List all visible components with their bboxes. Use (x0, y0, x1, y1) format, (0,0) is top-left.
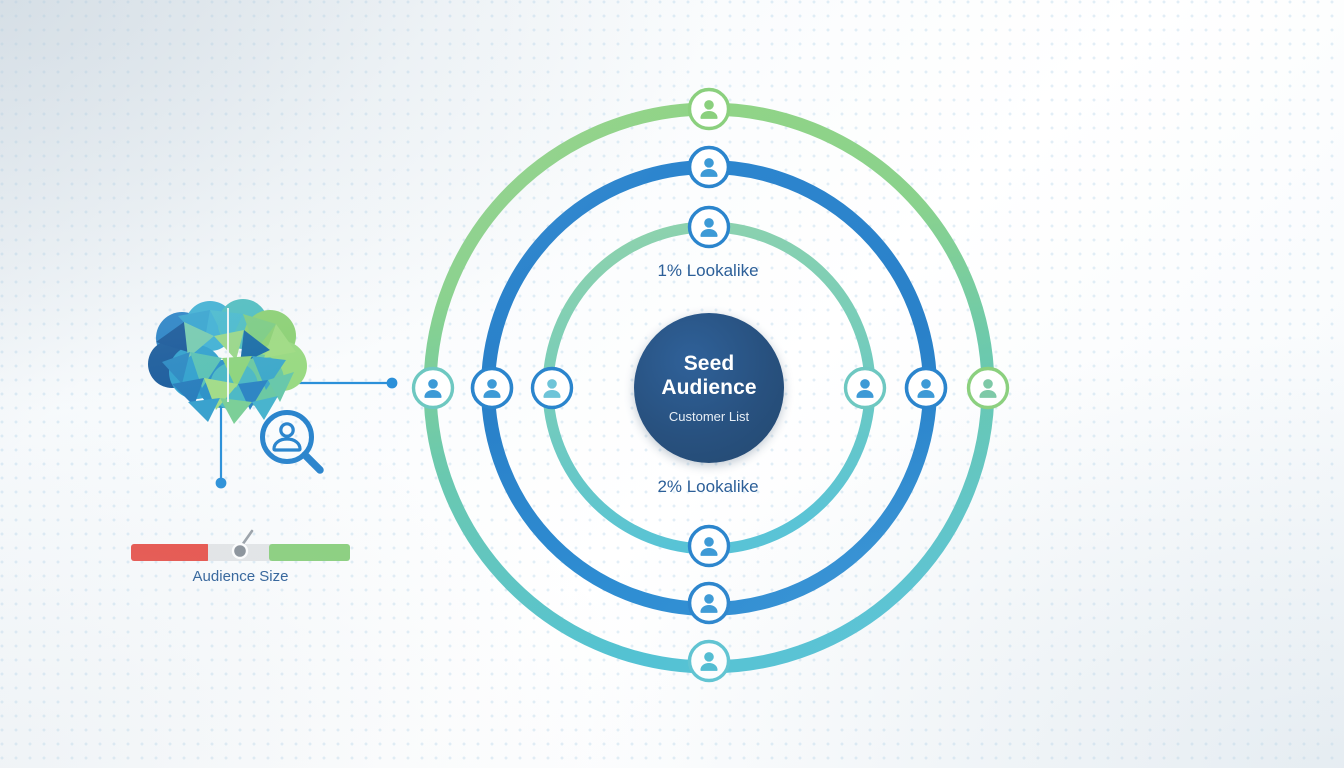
ring-badge[interactable] (473, 369, 512, 408)
seed-audience-title: Seed Audience (661, 352, 756, 399)
ring-badge[interactable] (690, 584, 729, 623)
person-search-icon (263, 413, 321, 471)
ring-badge[interactable] (690, 642, 729, 681)
slider-label: Audience Size (131, 568, 350, 585)
ring-badge[interactable] (533, 369, 572, 408)
diagram-canvas: Seed Audience Customer List 1% Lookalike… (0, 0, 1344, 768)
slider-segment-high (269, 544, 350, 561)
ring-badge[interactable] (690, 90, 729, 129)
seed-title-line2: Audience (661, 376, 756, 399)
ring-label-inner: 1% Lookalike (0, 261, 1344, 281)
seed-audience-subtitle: Customer List (669, 409, 749, 424)
audience-size-slider[interactable] (131, 531, 350, 561)
slider-segment-low (131, 544, 210, 561)
ring-label-outer: 2% Lookalike (0, 477, 1344, 497)
ring-badge[interactable] (969, 369, 1008, 408)
ring-badge[interactable] (846, 369, 885, 408)
seed-audience-node[interactable]: Seed Audience Customer List (634, 313, 784, 463)
brain-icon (148, 299, 307, 424)
ring-badge[interactable] (690, 527, 729, 566)
ring-badge[interactable] (907, 369, 946, 408)
seed-title-line1: Seed (684, 352, 735, 375)
ring-badge[interactable] (690, 208, 729, 247)
slider-knob (233, 544, 247, 558)
ring-badge[interactable] (414, 369, 453, 408)
ring-badge[interactable] (690, 148, 729, 187)
